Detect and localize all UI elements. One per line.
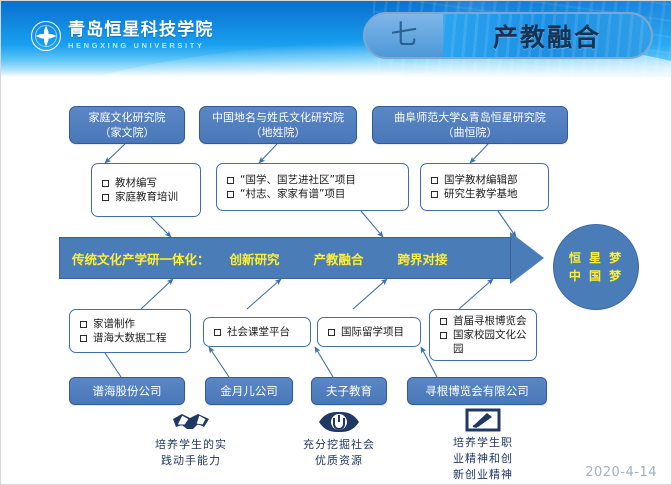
institute-box-3[interactable]: 曲阜师范大学&青岛恒星研究院 （曲恒院）: [372, 106, 568, 144]
bullet-item: 国家校园文化公园: [436, 328, 530, 356]
checkbox-square-icon: [431, 191, 438, 198]
outcome-3-caption: 培养学生职 业精神和创 新创业精神: [453, 435, 513, 483]
diagram-canvas: 家庭文化研究院 （家文院） 中国地名与姓氏文化研究院 （地姓院） 曲阜师范大学&…: [1, 77, 672, 485]
upper-item-box-1[interactable]: 教材编写 家庭教育培训: [91, 163, 201, 217]
company-box-3[interactable]: 夫子教育: [311, 377, 387, 405]
company-3-label: 夫子教育: [326, 384, 372, 399]
company-box-1[interactable]: 谱海股份公司: [69, 377, 185, 405]
bullet-text: 家庭教育培训: [115, 190, 194, 204]
bullet-text: 社会课堂平台: [227, 325, 304, 339]
outcome-group-3: 培养学生职 业精神和创 新创业精神: [433, 407, 533, 483]
dream-circle: 恒 星 梦 中 国 梦: [553, 224, 639, 310]
checkbox-square-icon: [214, 329, 221, 336]
compass-star-emblem-icon: [31, 21, 61, 51]
lower-item-box-1[interactable]: 家谱制作 谱海大数据工程: [69, 309, 191, 353]
bullet-text: “村志、家家有谱”项目: [240, 187, 402, 201]
checkbox-square-icon: [80, 335, 87, 342]
bullet-text: 国际留学项目: [341, 325, 414, 339]
outcome-2-line2: 优质资源: [303, 453, 375, 469]
company-4-label: 寻根博览会有限公司: [425, 384, 529, 399]
lower-item-box-4[interactable]: 首届寻根博览会 国家校园文化公园: [429, 309, 537, 361]
outcome-3-line3: 新创业精神: [453, 467, 513, 483]
checkbox-square-icon: [80, 321, 87, 328]
checkbox-square-icon: [440, 318, 447, 325]
bullet-text: “国学、国艺进社区”项目: [240, 173, 402, 187]
section-title-text: 产教融合: [493, 18, 601, 54]
outcome-group-2: 充分挖掘社会 优质资源: [285, 409, 393, 469]
arrow-head: [510, 232, 544, 284]
checkbox-square-icon: [328, 329, 335, 336]
outcome-1-line2: 践动手能力: [155, 453, 227, 469]
bullet-item: 谱海大数据工程: [76, 331, 184, 345]
checkbox-square-icon: [431, 177, 438, 184]
institute-box-1[interactable]: 家庭文化研究院 （家文院）: [69, 106, 185, 144]
institute-2-line2: （地姓院）: [212, 125, 344, 140]
institute-1-line1: 家庭文化研究院: [89, 110, 166, 125]
checkbox-square-icon: [102, 180, 109, 187]
lower-item-box-2[interactable]: 社会课堂平台: [203, 317, 311, 347]
bullet-item: 国学教材编辑部: [427, 173, 542, 187]
institute-box-2[interactable]: 中国地名与姓氏文化研究院 （地姓院）: [199, 106, 357, 144]
bullet-text: 国学教材编辑部: [444, 173, 542, 187]
logo-name-cn: 青岛恒星科技学院: [68, 22, 214, 39]
bullet-item: 教材编写: [98, 176, 194, 190]
upper-item-box-3[interactable]: 国学教材编辑部 研究生教学基地: [420, 163, 549, 211]
institute-2-line1: 中国地名与姓氏文化研究院: [212, 110, 344, 125]
bullet-item: 家庭教育培训: [98, 190, 194, 204]
banner-tag-2: 产教融合: [314, 249, 364, 268]
company-1-label: 谱海股份公司: [93, 384, 162, 399]
outcome-1-line1: 培养学生的实: [155, 437, 227, 453]
outcome-2-caption: 充分挖掘社会 优质资源: [303, 437, 375, 469]
bullet-item: 国际留学项目: [324, 325, 414, 339]
upper-item-box-2[interactable]: “国学、国艺进社区”项目 “村志、家家有谱”项目: [216, 163, 409, 211]
bullet-text: 研究生教学基地: [444, 187, 542, 201]
bullet-item: 社会课堂平台: [210, 325, 304, 339]
institute-1-line2: （家文院）: [89, 125, 166, 140]
section-title-pill: 七 产教融合: [363, 12, 653, 59]
section-number: 七: [365, 22, 443, 49]
outcome-2-line1: 充分挖掘社会: [303, 437, 375, 453]
outcome-3-line1: 培养学生职: [453, 435, 513, 451]
company-2-label: 金月儿公司: [220, 384, 278, 399]
outcome-group-1: 培养学生的实 践动手能力: [137, 409, 245, 469]
bullet-text: 国家校园文化公园: [453, 328, 530, 356]
checkbox-square-icon: [102, 194, 109, 201]
banner-tag-3: 跨界对接: [398, 249, 448, 268]
slide-root: 青岛恒星科技学院 HENGXING UNIVERSITY 七 产教融合: [0, 0, 672, 485]
dream-line-2: 中 国 梦: [569, 267, 623, 285]
checkbox-square-icon: [227, 191, 234, 198]
pen-tablet-icon: [465, 407, 501, 433]
banner-lead-text: 传统文化产学研一体化：: [72, 249, 210, 268]
lower-item-box-3[interactable]: 国际留学项目: [317, 317, 421, 347]
outcome-3-line2: 业精神和创: [453, 451, 513, 467]
bullet-text: 首届寻根博览会: [453, 314, 530, 328]
section-title-block: 产教融合: [443, 14, 651, 57]
social-resources-icon: [317, 409, 361, 435]
bullet-item: 首届寻根博览会: [436, 314, 530, 328]
university-logo: 青岛恒星科技学院 HENGXING UNIVERSITY: [31, 21, 214, 51]
bullet-text: 家谱制作: [93, 317, 184, 331]
company-box-2[interactable]: 金月儿公司: [205, 377, 293, 405]
handshake-icon: [171, 409, 211, 435]
bullet-item: “国学、国艺进社区”项目: [223, 173, 402, 187]
checkbox-square-icon: [440, 332, 447, 339]
integration-arrow-banner: 传统文化产学研一体化： 创新研究 产教融合 跨界对接: [59, 237, 541, 279]
logo-name-en: HENGXING UNIVERSITY: [68, 42, 214, 50]
bullet-item: 家谱制作: [76, 317, 184, 331]
date-stamp: 2020-4-14: [585, 465, 657, 480]
dream-line-1: 恒 星 梦: [569, 249, 623, 267]
bullet-item: 研究生教学基地: [427, 187, 542, 201]
checkbox-square-icon: [227, 177, 234, 184]
slide-header: 青岛恒星科技学院 HENGXING UNIVERSITY 七 产教融合: [1, 1, 672, 77]
outcome-1-caption: 培养学生的实 践动手能力: [155, 437, 227, 469]
institute-3-line1: 曲阜师范大学&青岛恒星研究院: [394, 110, 546, 125]
bullet-text: 教材编写: [115, 176, 194, 190]
institute-3-line2: （曲恒院）: [394, 125, 546, 140]
bullet-text: 谱海大数据工程: [93, 331, 184, 345]
company-box-4[interactable]: 寻根博览会有限公司: [407, 377, 547, 405]
arrow-body: 传统文化产学研一体化： 创新研究 产教融合 跨界对接: [59, 237, 511, 279]
banner-tag-1: 创新研究: [230, 249, 280, 268]
bullet-item: “村志、家家有谱”项目: [223, 187, 402, 201]
